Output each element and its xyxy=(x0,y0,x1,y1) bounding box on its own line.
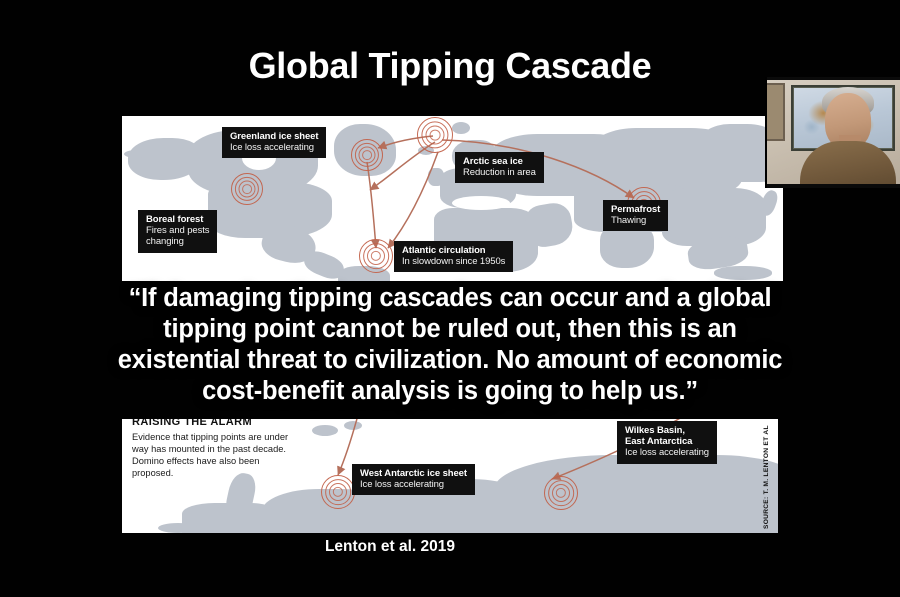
pull-quote: “If damaging tipping cascades can occur … xyxy=(40,283,860,407)
land-uk xyxy=(428,168,444,186)
attribution-text: Lenton et al. 2019 xyxy=(0,538,900,556)
callout-wilkes-basin: Wilkes Basin, East Antarctica Ice loss a… xyxy=(617,421,717,464)
callout-subtitle-2: changing xyxy=(146,236,209,247)
callout-title: Wilkes Basin, xyxy=(625,425,709,436)
quote-line-4: cost-benefit analysis is going to help u… xyxy=(40,376,860,407)
webcam-letterbox-bottom xyxy=(767,184,900,188)
antarctica-map: RAISING THE ALARM Evidence that tipping … xyxy=(122,419,778,533)
marker-boreal-forest xyxy=(232,174,262,204)
land-island-c xyxy=(158,523,198,533)
land-island-b xyxy=(344,421,362,430)
callout-title: Permafrost xyxy=(611,204,660,215)
callout-atlantic-circulation: Atlantic circulation In slowdown since 1… xyxy=(394,241,513,272)
source-credit: SOURCE: T. M. LENTON ET AL xyxy=(763,425,775,529)
callout-greenland-ice-sheet: Greenland ice sheet Ice loss acceleratin… xyxy=(222,127,326,158)
land-svalbard xyxy=(452,122,470,134)
marker-greenland-ice-sheet xyxy=(352,140,382,170)
callout-title: Boreal forest xyxy=(146,214,209,225)
northern-hemisphere-map: Greenland ice sheet Ice loss acceleratin… xyxy=(122,116,783,281)
land-alaska-islands xyxy=(124,150,150,158)
callout-title: Atlantic circulation xyxy=(402,245,505,256)
marker-wilkes-basin xyxy=(545,477,577,509)
callout-subtitle: Ice loss accelerating xyxy=(360,479,467,490)
land-mediterranean xyxy=(452,196,510,210)
callout-subtitle: In slowdown since 1950s xyxy=(402,256,505,267)
marker-atlantic-circulation xyxy=(360,240,392,272)
marker-west-antarctic-ice-sheet xyxy=(322,476,354,508)
side-wall-artwork xyxy=(765,83,785,141)
presenter-video-feed[interactable] xyxy=(765,77,900,188)
callout-title-2: East Antarctica xyxy=(625,436,709,447)
callout-west-antarctic-ice-sheet: West Antarctic ice sheet Ice loss accele… xyxy=(352,464,475,495)
callout-subtitle: Thawing xyxy=(611,215,660,226)
callout-subtitle: Fires and pests xyxy=(146,225,209,236)
callout-title: Arctic sea ice xyxy=(463,156,536,167)
quote-line-1: “If damaging tipping cascades can occur … xyxy=(40,283,860,314)
quote-line-3: existential threat to civilization. No a… xyxy=(40,345,860,376)
marker-arctic-sea-ice xyxy=(418,118,452,152)
callout-subtitle: Ice loss accelerating xyxy=(230,142,318,153)
land-indonesia xyxy=(714,266,772,280)
webcam-letterbox-top xyxy=(767,77,900,80)
callout-arctic-sea-ice: Arctic sea ice Reduction in area xyxy=(455,152,544,183)
raising-the-alarm-body: Evidence that tipping points are under w… xyxy=(132,431,292,479)
land-east-antarctica xyxy=(494,455,778,533)
raising-the-alarm-heading: RAISING THE ALARM xyxy=(132,419,252,428)
callout-title: Greenland ice sheet xyxy=(230,131,318,142)
callout-permafrost: Permafrost Thawing xyxy=(603,200,668,231)
land-island-a xyxy=(312,425,338,436)
callout-boreal-forest: Boreal forest Fires and pests changing xyxy=(138,210,217,253)
quote-line-2: tipping point cannot be ruled out, then … xyxy=(40,314,860,345)
presentation-slide: Global Tipping Cascade xyxy=(0,0,900,597)
callout-title: West Antarctic ice sheet xyxy=(360,468,467,479)
callout-subtitle: Reduction in area xyxy=(463,167,536,178)
callout-subtitle: Ice loss accelerating xyxy=(625,447,709,458)
